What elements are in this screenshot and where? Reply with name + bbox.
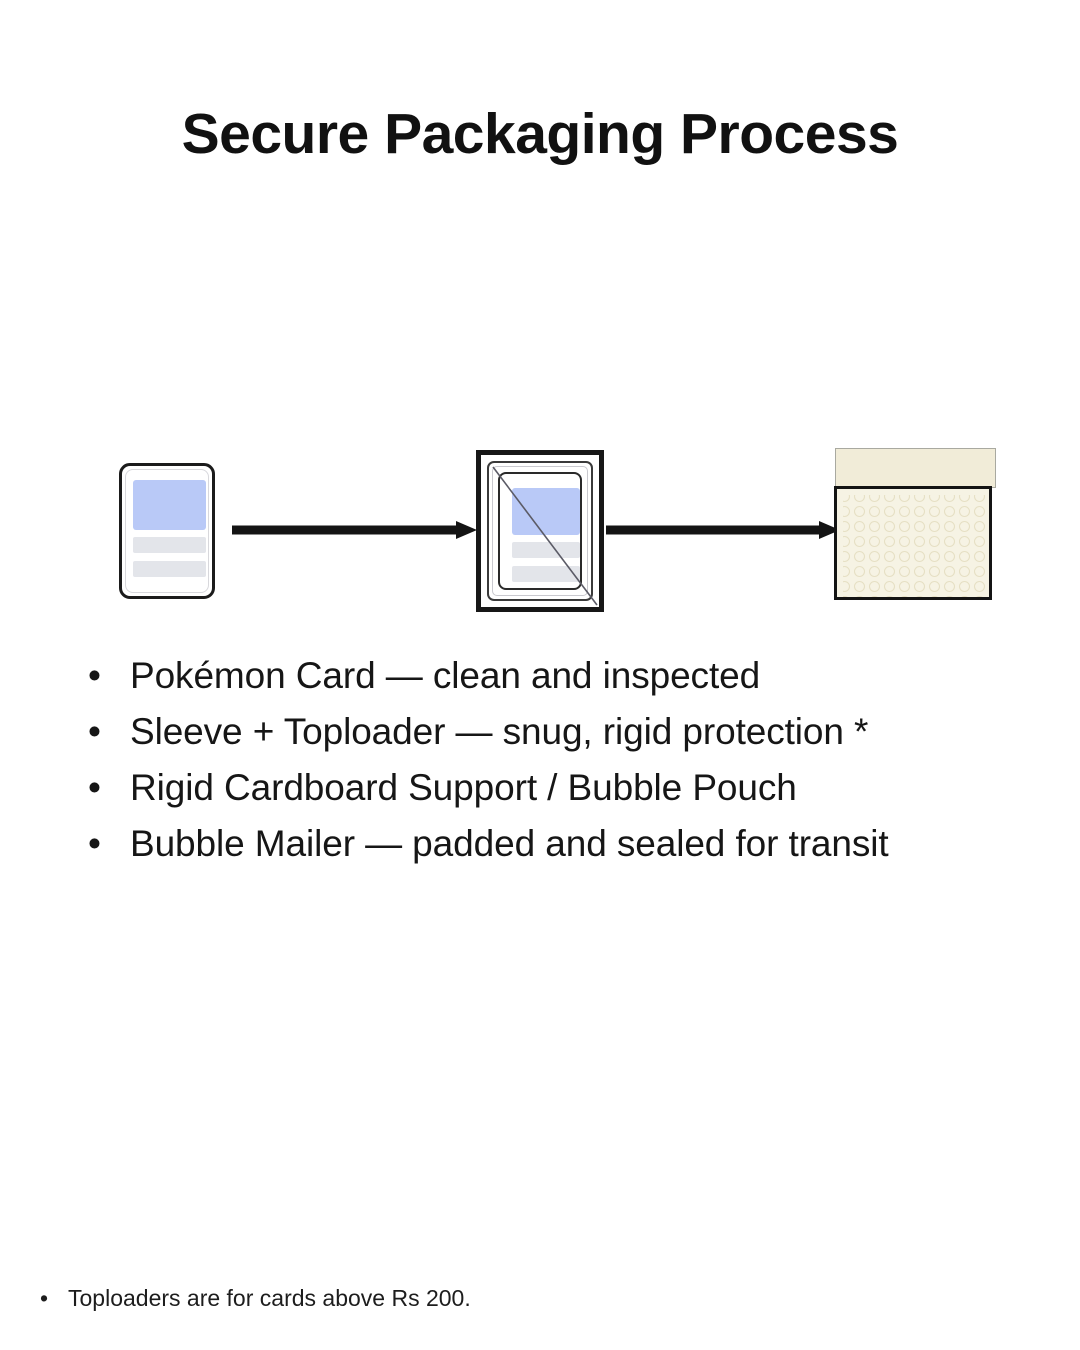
card-artwork-block [512, 488, 580, 535]
sleeve-icon [487, 461, 593, 601]
bullet-list: • Pokémon Card — clean and inspected • S… [88, 648, 1048, 872]
arrow-right-icon [232, 516, 477, 549]
list-item-label: Bubble Mailer — padded and sealed for tr… [130, 816, 1048, 872]
card-text-line [133, 561, 206, 577]
bullet-marker-icon: • [88, 704, 130, 760]
card-text-line [512, 542, 580, 558]
toploader-icon [476, 450, 604, 612]
bullet-marker-icon: • [40, 1281, 68, 1315]
list-item: • Bubble Mailer — padded and sealed for … [88, 816, 1048, 872]
card-text-line [133, 537, 206, 553]
mailer-flap [835, 448, 996, 488]
list-item-label: Sleeve + Toploader — snug, rigid protect… [130, 704, 1048, 760]
list-item-label: Pokémon Card — clean and inspected [130, 648, 1048, 704]
bubble-texture-icon [837, 489, 992, 600]
list-item: • Rigid Cardboard Support / Bubble Pouch [88, 760, 1048, 816]
footnote: • Toploaders are for cards above Rs 200. [40, 1281, 840, 1315]
mailer-body [834, 486, 992, 600]
footnote-label: Toploaders are for cards above Rs 200. [68, 1281, 471, 1315]
trading-card-icon [119, 463, 215, 599]
bubble-mailer-icon [834, 448, 996, 600]
page-title: Secure Packaging Process [0, 103, 1080, 167]
packaging-process-diagram [0, 430, 1080, 630]
arrow-right-icon [606, 516, 840, 549]
bullet-marker-icon: • [88, 816, 130, 872]
bullet-marker-icon: • [88, 648, 130, 704]
trading-card-icon [498, 472, 582, 590]
list-item: • Sleeve + Toploader — snug, rigid prote… [88, 704, 1048, 760]
card-artwork-block [133, 480, 206, 530]
card-text-line [512, 566, 580, 582]
list-item: • Pokémon Card — clean and inspected [88, 648, 1048, 704]
bullet-marker-icon: • [88, 760, 130, 816]
list-item-label: Rigid Cardboard Support / Bubble Pouch [130, 760, 1048, 816]
